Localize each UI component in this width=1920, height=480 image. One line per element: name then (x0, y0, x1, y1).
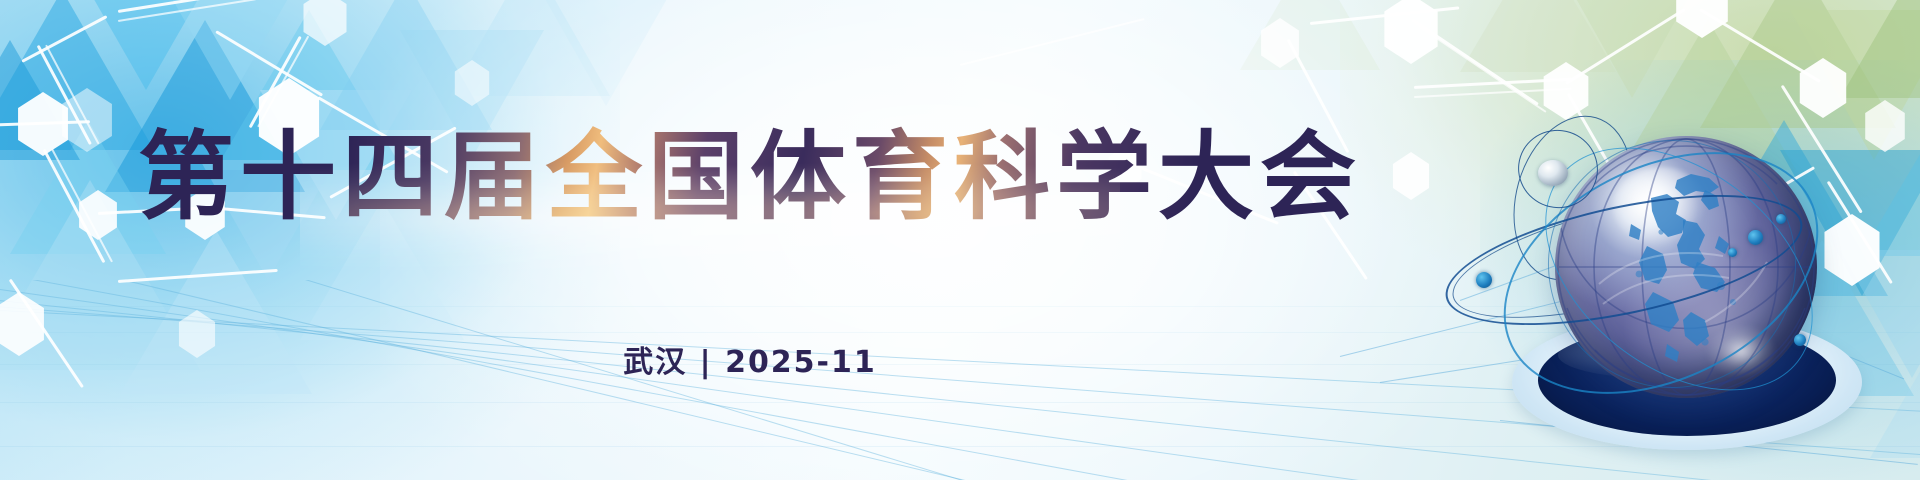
hexagon-node (1540, 62, 1592, 120)
hexagon-node (1796, 58, 1850, 118)
globe-graphic (1500, 118, 1920, 480)
orbit-node (1748, 230, 1763, 245)
conference-banner: 第十四届全国体育科学大会 武汉 | 2025-11 (0, 0, 1920, 480)
orbit-node (1776, 214, 1786, 224)
satellite-sphere (1538, 160, 1568, 186)
orbit-node (1728, 248, 1737, 257)
orbit-node (1476, 272, 1492, 288)
orbit-node (1794, 334, 1806, 346)
page-title: 第十四届全国体育科学大会 (138, 124, 1362, 232)
hexagon-node (300, 0, 350, 46)
event-location-date: 武汉 | 2025-11 (623, 337, 877, 381)
subtitle-block: 武汉 | 2025-11 (0, 337, 1500, 381)
hexagon-node (1672, 0, 1732, 38)
title-block: 第十四届全国体育科学大会 (0, 124, 1500, 232)
